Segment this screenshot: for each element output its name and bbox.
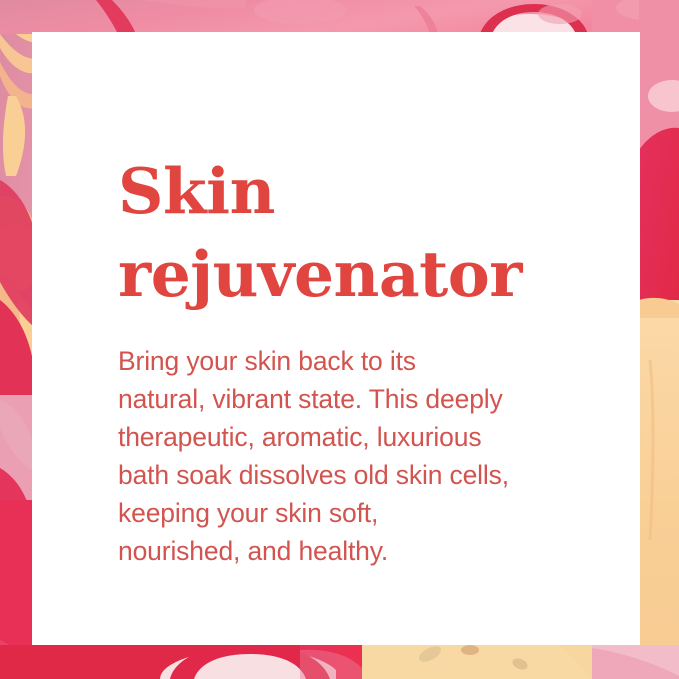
product-description: Bring your skin back to its natural, vib… xyxy=(118,316,596,570)
poster-canvas: Skin rejuvenator Bring your skin back to… xyxy=(0,0,679,679)
white-content-card: Skin rejuvenator Bring your skin back to… xyxy=(32,32,640,645)
page-title: Skin rejuvenator xyxy=(118,150,596,316)
